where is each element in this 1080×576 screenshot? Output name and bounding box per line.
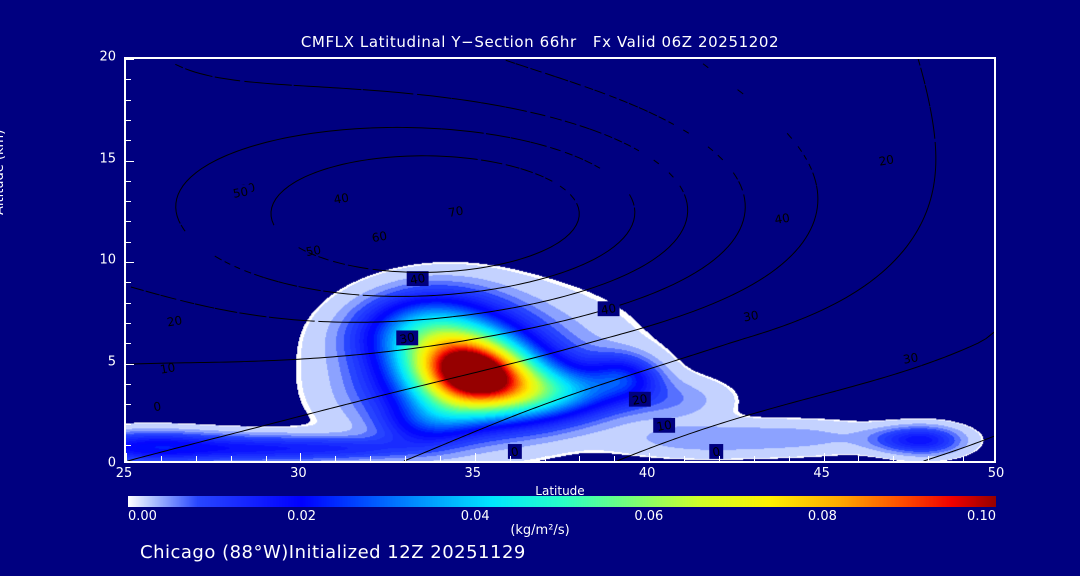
contour-line	[809, 164, 812, 170]
contour-line	[634, 148, 639, 151]
contour-label: 20	[631, 391, 648, 407]
y-tick-mark	[126, 79, 131, 80]
y-tick-mark	[126, 161, 134, 162]
x-tick-mark	[579, 456, 580, 461]
contour-line	[481, 160, 502, 164]
x-tick-mark	[405, 456, 406, 461]
contour-line	[585, 160, 592, 164]
contour-line	[279, 282, 297, 286]
contour-line	[639, 108, 648, 112]
contour-line	[739, 181, 743, 190]
x-tick-mark	[475, 453, 476, 461]
contour-line	[180, 300, 194, 303]
y-tick-mark	[126, 282, 131, 283]
contour-line	[924, 436, 994, 461]
x-tick-mark	[440, 456, 441, 461]
y-tick-mark	[126, 181, 131, 182]
x-tick-mark	[614, 456, 615, 461]
y-tick-mark	[126, 140, 131, 141]
contour-line	[680, 186, 683, 192]
x-tick-label: 30	[290, 466, 307, 481]
contour-label: 50	[232, 184, 249, 200]
y-tick-mark	[126, 303, 131, 304]
contour-label: 10	[655, 418, 672, 434]
x-tick-label: 45	[813, 466, 830, 481]
y-axis-labels: 05101520	[60, 57, 116, 463]
x-tick-mark	[789, 456, 790, 461]
y-tick-mark	[126, 242, 131, 243]
contour-label: 40	[409, 271, 426, 287]
x-tick-mark	[510, 456, 511, 461]
x-tick-mark	[231, 456, 232, 461]
contour-line	[530, 142, 546, 146]
contour-label: 40	[333, 190, 350, 206]
contour-line	[175, 64, 182, 67]
contour-lines: 0001010202020303030304040404050506070	[126, 59, 994, 461]
contour-line	[521, 169, 533, 173]
x-tick-mark	[196, 456, 197, 461]
contour-line	[703, 64, 708, 68]
y-tick-mark	[126, 404, 131, 405]
contour-line	[146, 291, 160, 295]
contour-line	[575, 156, 583, 159]
x-tick-mark	[719, 456, 720, 461]
contour-line	[585, 87, 593, 90]
contour-label: 20	[166, 313, 183, 329]
contour-line	[659, 117, 666, 121]
contour-label: 30	[399, 330, 416, 346]
contour-line	[323, 291, 359, 295]
x-tick-mark	[161, 456, 162, 461]
x-tick-mark	[545, 456, 546, 461]
y-tick-mark	[126, 100, 131, 101]
colorbar-tick-label: 0.10	[967, 509, 996, 524]
contour-label: 40	[774, 211, 791, 227]
plot-area: 0001010202020303030304040404050506070	[124, 57, 996, 463]
contour-label: 60	[371, 229, 388, 245]
contour-line	[654, 160, 659, 164]
figure-root: CMFLX Latitudinal Y−Section 66hr Fx Vali…	[0, 0, 1080, 576]
contour-line	[128, 186, 818, 461]
contour-line	[683, 130, 688, 133]
y-tick-mark	[126, 221, 131, 222]
contour-line	[185, 69, 195, 72]
contour-line	[506, 107, 527, 111]
contour-line	[244, 81, 291, 85]
contour-line	[333, 261, 345, 264]
y-tick-mark	[126, 59, 134, 60]
x-tick-mark	[300, 453, 301, 461]
contour-line	[535, 174, 543, 177]
contour-line	[804, 155, 807, 159]
contour-line	[604, 134, 612, 137]
contour-line	[617, 332, 994, 461]
contour-line	[925, 85, 930, 106]
chart-title: CMFLX Latitudinal Y−Section 66hr Fx Vali…	[0, 33, 1080, 51]
y-tick-label: 10	[99, 253, 116, 268]
contour-line	[718, 155, 723, 160]
x-tick-mark	[754, 456, 755, 461]
contour-line	[560, 186, 565, 190]
contour-line	[669, 122, 674, 125]
colorbar-tick-label: 0.06	[634, 509, 663, 524]
x-tick-label: 50	[988, 466, 1005, 481]
contour-line	[595, 90, 606, 94]
x-tick-mark	[370, 456, 371, 461]
contour-label: 30	[742, 308, 759, 324]
contour-line	[545, 73, 555, 76]
contour-line	[619, 99, 627, 102]
x-tick-label: 40	[639, 466, 656, 481]
contour-line	[511, 138, 530, 142]
contour-line	[609, 96, 616, 99]
contour-line	[506, 60, 515, 63]
contour-line	[452, 98, 481, 102]
x-tick-mark	[266, 456, 267, 461]
contour-line	[215, 256, 222, 260]
contour-line	[550, 147, 560, 150]
x-tick-mark	[893, 456, 894, 461]
contour-line	[550, 117, 562, 120]
y-tick-mark	[126, 364, 134, 365]
contour-line	[918, 59, 920, 65]
y-axis-title: Altitude (km)	[0, 130, 7, 215]
contour-line	[629, 194, 634, 205]
contour-line	[417, 94, 451, 98]
y-tick-mark	[126, 343, 131, 344]
contour-line	[530, 112, 545, 116]
contour-line	[738, 90, 744, 94]
contour-line	[590, 129, 602, 133]
x-tick-mark	[649, 453, 650, 461]
contour-line	[161, 295, 177, 299]
contour-line	[565, 121, 576, 124]
contour-line	[555, 77, 568, 81]
x-tick-mark	[684, 456, 685, 461]
contour-line	[614, 139, 622, 142]
contour-line	[225, 262, 231, 265]
x-tick-mark	[824, 453, 825, 461]
colorbar-tick-label: 0.08	[808, 509, 837, 524]
contour-line	[921, 68, 925, 84]
footer-caption: Chicago (88°W)Initialized 12Z 20251129	[140, 542, 526, 563]
y-tick-label: 20	[99, 50, 116, 65]
contour-line	[373, 203, 580, 272]
contour-line	[486, 134, 510, 138]
contour-line	[930, 107, 935, 139]
contour-line	[299, 287, 321, 291]
contour-line	[363, 208, 635, 297]
x-tick-label: 25	[116, 466, 133, 481]
contour-line	[126, 194, 745, 364]
contour-line	[649, 112, 657, 116]
contour-line	[669, 173, 673, 178]
contour-line	[798, 146, 802, 151]
colorbar	[128, 496, 996, 507]
contour-line	[195, 304, 214, 308]
contour-label: 70	[447, 204, 464, 220]
contour-line	[565, 152, 573, 155]
y-tick-label: 15	[99, 151, 116, 166]
contour-line	[181, 225, 185, 231]
contour-line	[254, 274, 264, 277]
contour-line	[215, 308, 237, 312]
contour-line	[131, 287, 144, 291]
contour-line	[733, 173, 737, 180]
y-tick-mark	[126, 424, 131, 425]
x-tick-mark	[335, 456, 336, 461]
y-tick-mark	[126, 384, 131, 385]
colorbar-tick-label: 0.00	[128, 509, 157, 524]
contour-line	[264, 278, 279, 282]
y-tick-label: 5	[108, 354, 116, 369]
y-tick-mark	[126, 445, 131, 446]
contour-line	[442, 129, 484, 133]
x-tick-mark	[963, 456, 964, 461]
contour-line	[244, 271, 251, 274]
y-tick-mark	[126, 201, 131, 202]
contour-line	[239, 313, 266, 317]
contour-line	[708, 147, 713, 151]
contour-line	[363, 90, 414, 94]
contour-line	[545, 178, 552, 182]
contour-line	[813, 173, 817, 186]
contour-line	[570, 194, 575, 200]
x-tick-mark	[928, 456, 929, 461]
contour-line	[348, 265, 368, 269]
contour-line	[506, 165, 520, 169]
contour-line	[595, 165, 601, 168]
contour-line	[624, 143, 631, 146]
x-tick-mark	[858, 456, 859, 461]
colorbar-tick-label: 0.02	[287, 509, 316, 524]
y-tick-mark	[126, 120, 131, 121]
contour-line	[481, 103, 506, 107]
y-tick-mark	[126, 323, 131, 324]
contour-line	[580, 126, 590, 129]
contour-line	[294, 85, 362, 89]
x-tick-mark	[126, 453, 127, 461]
contour-line	[629, 103, 638, 107]
colorbar-units: (kg/m²/s)	[0, 523, 1080, 538]
contour-label: 20	[878, 152, 895, 168]
contour-line	[269, 317, 315, 321]
contour-line	[195, 72, 212, 76]
contour-line	[215, 77, 240, 81]
y-tick-mark	[126, 262, 134, 263]
contour-line	[516, 64, 529, 68]
contour-line	[318, 194, 687, 322]
contour-line	[235, 266, 240, 268]
contour-line	[570, 81, 581, 85]
contour-label: 40	[600, 301, 617, 317]
x-tick-label: 35	[465, 466, 482, 481]
contour-label: 30	[902, 350, 919, 366]
contour-line	[404, 142, 936, 461]
contour-line	[530, 68, 541, 72]
contour-line	[787, 133, 792, 138]
colorbar-tick-label: 0.04	[461, 509, 490, 524]
